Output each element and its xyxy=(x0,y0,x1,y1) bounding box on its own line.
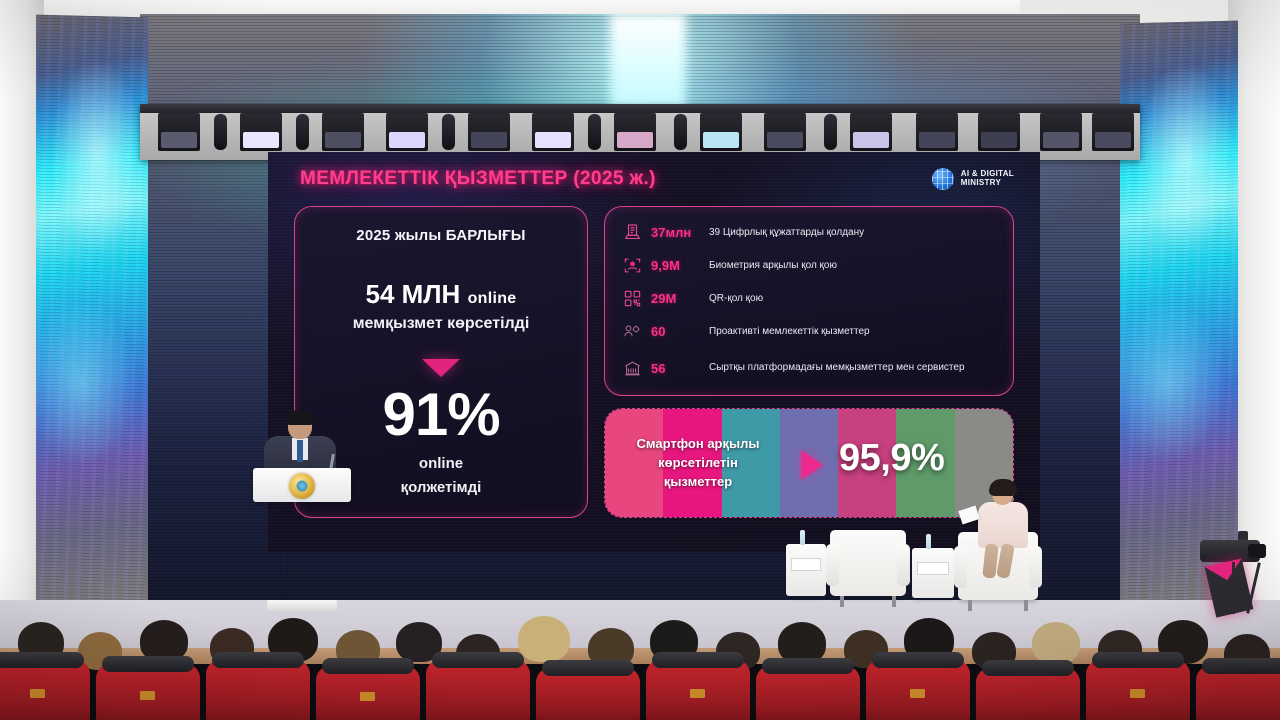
seat-number-tag xyxy=(360,692,375,701)
seat-number-tag xyxy=(690,689,705,698)
speaker-tie xyxy=(297,440,303,462)
stage-light-fixture xyxy=(700,113,742,151)
guest-leg xyxy=(996,543,1015,579)
triangle-right-icon xyxy=(801,450,823,480)
globe-icon xyxy=(932,168,954,190)
stage-light-fixture xyxy=(1092,113,1134,151)
logo-text: AI & DIGITAL MINISTRY xyxy=(961,170,1014,188)
total-services-number: 54 МЛН online xyxy=(295,279,587,310)
stage-light-fixture xyxy=(322,113,364,151)
chair-arm xyxy=(954,546,967,588)
audience-seat xyxy=(0,660,90,720)
stat-row: 29М QR-қол қою xyxy=(617,282,1001,315)
total-value: 54 МЛН xyxy=(366,279,461,309)
stat-label: Проактивті мемлекеттік қызметтер xyxy=(709,326,870,338)
audience-seat xyxy=(96,664,200,720)
stage-light-fixture xyxy=(614,113,656,151)
panel-heading: 2025 жылы БАРЛЫҒЫ xyxy=(295,227,587,244)
ministry-logo: AI & DIGITAL MINISTRY xyxy=(932,168,1014,190)
seat-number-tag xyxy=(140,691,155,700)
conference-hall-scene: МЕМЛЕКЕТТІК ҚЫЗМЕТТЕР (2025 ж.) AI & DIG… xyxy=(0,0,1280,720)
stat-value: 9,9М xyxy=(647,258,709,273)
audience-seat xyxy=(536,668,640,720)
audience-seat xyxy=(1196,666,1280,720)
stage-light-fixture xyxy=(916,113,958,151)
audience-seat xyxy=(426,660,530,720)
led-panel-left xyxy=(36,15,148,652)
stage-light-fixture xyxy=(764,113,806,151)
stage-light-lyre xyxy=(588,114,601,150)
tripod-leg xyxy=(1232,562,1235,614)
audience-seat xyxy=(1086,660,1190,720)
stage-light-fixture xyxy=(1040,113,1082,151)
podium xyxy=(253,468,351,620)
statistics-list-panel: 37млн 39 Цифрлық құжаттарды қолдану 9,9М… xyxy=(604,206,1014,396)
chair-leg xyxy=(840,596,844,607)
qr-code-icon xyxy=(617,286,647,312)
chair-arm xyxy=(826,544,839,586)
camera-lens xyxy=(1248,544,1266,558)
stage-light-fixture xyxy=(386,113,428,151)
triangle-down-icon xyxy=(422,359,460,377)
water-bottle xyxy=(800,530,805,545)
stat-label: Сыртқы платформадағы мемқызметтер мен се… xyxy=(709,362,965,374)
audience-seat xyxy=(646,660,750,720)
audience-seat xyxy=(206,660,310,720)
stage-light-lyre xyxy=(674,114,687,150)
stage-seating-group xyxy=(786,500,1086,618)
speaker-at-podium xyxy=(258,412,342,476)
truss-bar xyxy=(140,104,1140,113)
audience-seat xyxy=(756,666,860,720)
stage-light-fixture xyxy=(532,113,574,151)
audience-head xyxy=(518,616,570,662)
podium-column xyxy=(280,502,324,602)
stage-light-lyre xyxy=(442,114,455,150)
person-gear-icon xyxy=(617,319,647,345)
guest-body xyxy=(978,502,1028,548)
seat-number-tag xyxy=(30,689,45,698)
audience-head xyxy=(1032,622,1080,664)
stat-value: 37млн xyxy=(647,225,709,240)
smartphone-percent-value: 95,9% xyxy=(839,437,944,480)
document-laptop-icon xyxy=(617,220,647,246)
audience-seat xyxy=(976,668,1080,720)
logo-line-2: MINISTRY xyxy=(961,179,1014,188)
stage-light-fixture xyxy=(978,113,1020,151)
video-camera-on-tripod xyxy=(1196,540,1270,618)
seated-guest xyxy=(968,482,1038,582)
stat-row: 37млн 39 Цифрлық құжаттарды қолдану xyxy=(617,216,1001,249)
name-card xyxy=(791,558,821,571)
total-services-caption: мемқызмет көрсетілді xyxy=(295,315,587,333)
guest-hair xyxy=(989,479,1017,496)
total-suffix: online xyxy=(468,290,517,307)
audience-seat xyxy=(316,666,420,720)
side-table xyxy=(912,548,954,598)
podium-top xyxy=(253,468,351,502)
stat-row: 9,9М Биометрия арқылы қол қою xyxy=(617,249,1001,282)
stage-light-fixture xyxy=(158,113,200,151)
stage-light-fixture xyxy=(240,113,282,151)
chair-leg xyxy=(892,596,896,607)
armchair xyxy=(830,530,906,596)
building-icon xyxy=(617,355,647,381)
name-card xyxy=(917,562,949,575)
stat-value: 29М xyxy=(647,291,709,306)
stat-row: 60 Проактивті мемлекеттік қызметтер xyxy=(617,315,1001,348)
stage-light-fixture xyxy=(468,113,510,151)
stat-label: 39 Цифрлық құжаттарды қолдану xyxy=(709,227,864,239)
water-bottle xyxy=(926,534,931,549)
stat-value: 60 xyxy=(647,324,709,339)
seat-number-tag xyxy=(1130,689,1145,698)
kazakhstan-emblem-icon xyxy=(289,473,315,499)
face-scan-icon xyxy=(617,253,647,279)
presentation-slide: МЕМЛЕКЕТТІК ҚЫЗМЕТТЕР (2025 ж.) AI & DIG… xyxy=(268,152,1040,552)
chair-arm xyxy=(897,544,910,586)
chair-leg xyxy=(968,600,972,611)
audience-seat xyxy=(866,660,970,720)
stat-label: QR-қол қою xyxy=(709,293,763,305)
document-paper xyxy=(958,506,979,525)
seat-number-tag xyxy=(910,689,925,698)
stat-row: 56 Сыртқы платформадағы мемқызметтер мен… xyxy=(617,348,1001,388)
speaker-hair xyxy=(286,410,314,425)
slide-title: МЕМЛЕКЕТТІК ҚЫЗМЕТТЕР (2025 ж.) xyxy=(300,168,656,190)
side-table xyxy=(786,544,826,596)
stage-light-lyre xyxy=(214,114,227,150)
chair-leg xyxy=(1024,600,1028,611)
stage-light-lyre xyxy=(824,114,837,150)
stage-light-lyre xyxy=(296,114,309,150)
stat-label: Биометрия арқылы қол қою xyxy=(709,260,837,272)
audience xyxy=(0,618,1280,720)
stage-light-fixture xyxy=(850,113,892,151)
podium-base xyxy=(267,600,337,611)
stat-value: 56 xyxy=(647,361,709,376)
smartphone-services-label: Смартфон арқылы көрсетілетін қызметтер xyxy=(623,435,773,492)
